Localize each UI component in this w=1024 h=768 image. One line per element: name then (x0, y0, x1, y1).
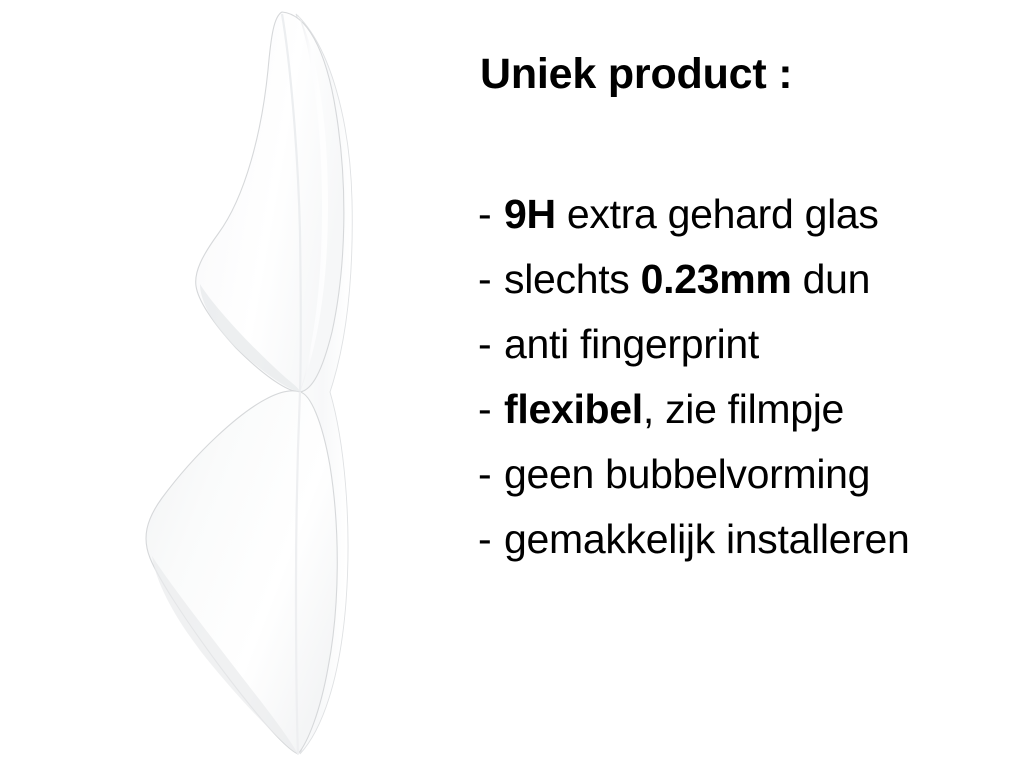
list-item-thickness: -slechts 0.23mm dun (478, 247, 1024, 312)
list-item-no-bubbles: -geen bubbelvorming (478, 442, 1024, 507)
list-item-fingerprint: -anti fingerprint (478, 312, 1024, 377)
feature-emphasis-thickness: 0.23mm (641, 256, 792, 302)
list-item-9h: -9H extra gehard glas (478, 182, 1024, 247)
bullet-marker: - (478, 442, 504, 507)
feature-text-no-bubbles: geen bubbelvorming (504, 451, 870, 497)
product-image (0, 0, 470, 768)
bullet-marker: - (478, 377, 504, 442)
bullet-marker: - (478, 247, 504, 312)
page-title: Uniek product : (480, 50, 792, 99)
bullet-marker: - (478, 182, 504, 247)
feature-text-9h: extra gehard glas (556, 191, 879, 237)
feature-panel: Uniek product : -9H extra gehard glas -s… (470, 0, 1024, 768)
feature-text-flexible: , zie filmpje (643, 386, 844, 432)
bullet-marker: - (478, 312, 504, 377)
glass-upper-lobe (196, 12, 344, 392)
list-item-flexible: -flexibel, zie filmpje (478, 377, 1024, 442)
feature-text-thickness-after: dun (792, 256, 871, 302)
feature-text-fingerprint: anti fingerprint (504, 321, 759, 367)
feature-emphasis-flexible: flexibel (504, 386, 643, 432)
bullet-marker: - (478, 507, 504, 572)
feature-text-easy-install: gemakkelijk installeren (504, 516, 910, 562)
glass-illustration-svg (0, 0, 470, 768)
feature-emphasis-9h: 9H (504, 191, 556, 237)
product-promo-image: Uniek product : -9H extra gehard glas -s… (0, 0, 1024, 768)
feature-list: -9H extra gehard glas -slechts 0.23mm du… (478, 182, 1024, 572)
feature-text-thickness-before: slechts (504, 256, 641, 302)
list-item-easy-install: -gemakkelijk installeren (478, 507, 1024, 572)
